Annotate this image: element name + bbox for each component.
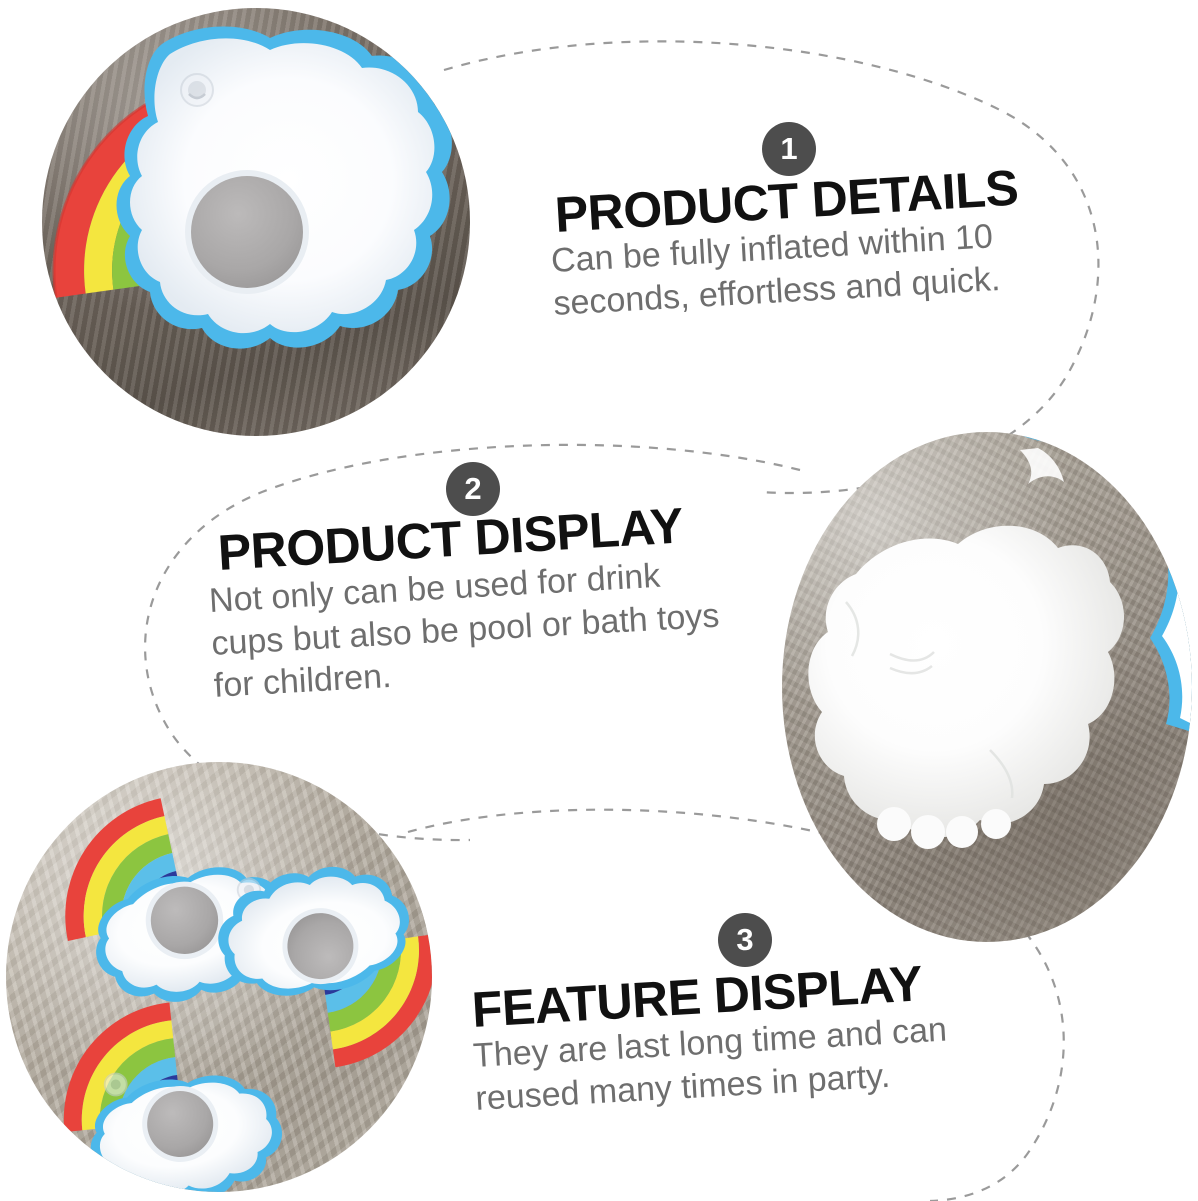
- product-photo-white-cloud-underside: [782, 432, 1192, 942]
- rainbow-cloud-illustration-1: [42, 8, 470, 436]
- secondary-float-edge-top-right: [978, 432, 1192, 484]
- product-infographic: 1 PRODUCT DETAILS Can be fully inflated …: [0, 0, 1198, 1201]
- white-cloud-underside-illustration: [782, 432, 1192, 942]
- secondary-float-edge-right: [1150, 528, 1192, 732]
- section-number-badge-3: 3: [718, 913, 772, 967]
- cloud-holder-bottom-left: [52, 992, 288, 1192]
- cloud-body-white-2: [808, 526, 1124, 838]
- inflation-valve: [181, 74, 213, 106]
- cup-hole: [191, 176, 303, 288]
- section-number-badge-1: 1: [762, 122, 816, 176]
- product-photo-rainbow-cloud-cup-holder-top: [42, 8, 470, 436]
- section-3-text-block: 3 FEATURE DISPLAY They are last long tim…: [440, 895, 1040, 1175]
- three-rainbow-clouds-illustration: [6, 762, 432, 1192]
- section-2-text-block: 2 PRODUCT DISPLAY Not only can be used f…: [180, 450, 800, 740]
- product-photo-three-rainbow-cloud-holders: [6, 762, 432, 1192]
- section-1-text-block: 1 PRODUCT DETAILS Can be fully inflated …: [520, 100, 1120, 380]
